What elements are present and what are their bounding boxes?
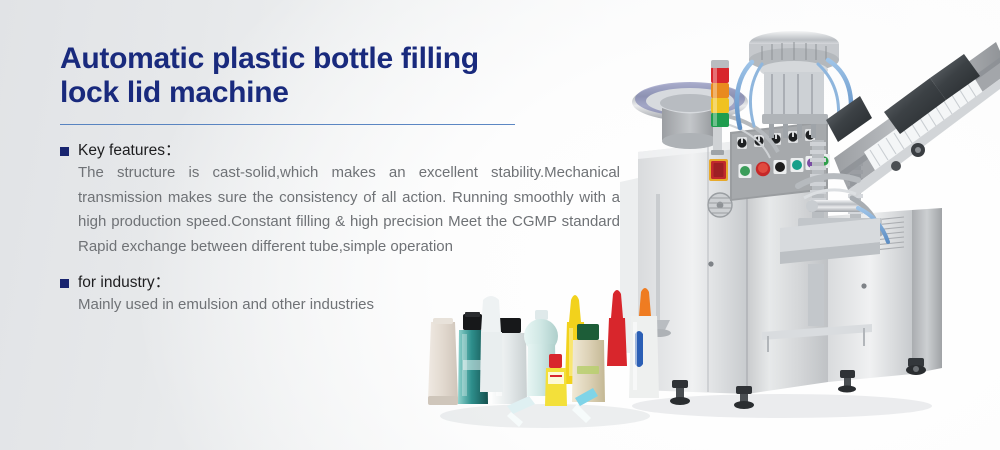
feature-section-key-features: Key features： The structure is cast-soli… <box>60 141 660 259</box>
for-industry-heading: for industry： <box>60 273 660 292</box>
key-features-label: Key features： <box>78 141 181 160</box>
page-title: Automatic plastic bottle filling lock li… <box>60 42 660 110</box>
key-features-text: The structure is cast-solid,which makes … <box>78 161 620 259</box>
title-divider <box>60 124 515 125</box>
bullet-square-icon <box>60 147 69 156</box>
tower-light <box>711 60 729 155</box>
emergency-switch[interactable] <box>709 159 728 181</box>
key-features-heading: Key features： <box>60 141 660 160</box>
for-industry-text: Mainly used in emulsion and other indust… <box>78 293 620 318</box>
for-industry-label: for industry： <box>78 273 170 292</box>
fan-vent-icon <box>708 193 732 217</box>
bottle-beige-cosmetic-tube <box>428 318 458 405</box>
bullet-square-icon <box>60 279 69 288</box>
text-column: Automatic plastic bottle filling lock li… <box>60 42 660 318</box>
product-banner: Automatic plastic bottle filling lock li… <box>0 0 1000 450</box>
feature-section-for-industry: for industry： Mainly used in emulsion an… <box>60 273 660 318</box>
